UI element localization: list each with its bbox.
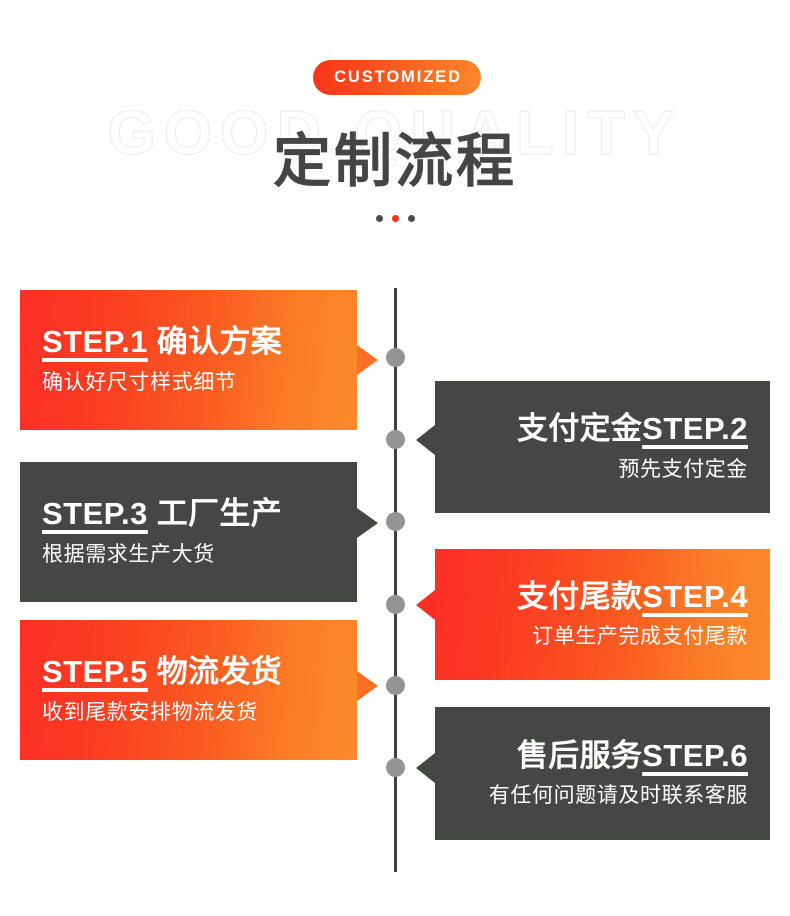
header-section: CUSTOMIZED GOOD QUALITY 定制流程	[0, 0, 790, 275]
step-4-number: STEP.4	[642, 579, 748, 614]
step-card-1[interactable]: STEP.1 确认方案 确认好尺寸样式细节	[20, 290, 357, 430]
step-2-title: 支付定金STEP.2	[517, 411, 748, 448]
step-6-title: 售后服务STEP.6	[517, 738, 748, 775]
step-card-4[interactable]: 支付尾款STEP.4 订单生产完成支付尾款	[435, 549, 770, 680]
timeline-node-5	[386, 676, 405, 695]
step-card-5[interactable]: STEP.5 物流发货 收到尾款安排物流发货	[20, 620, 357, 760]
step-3-heading: 工厂生产	[157, 496, 282, 531]
step-card-6[interactable]: 售后服务STEP.6 有任何问题请及时联系客服	[435, 707, 770, 840]
timeline-node-2	[386, 430, 405, 449]
step-2-number: STEP.2	[642, 411, 748, 446]
step-4-title: 支付尾款STEP.4	[517, 579, 748, 616]
step-5-arrow-icon	[357, 671, 378, 701]
step-6-subtitle: 有任何问题请及时联系客服	[489, 783, 748, 809]
step-4-subtitle: 订单生产完成支付尾款	[532, 624, 748, 650]
timeline-node-4	[386, 595, 405, 614]
timeline-node-6	[386, 758, 405, 777]
step-2-heading: 支付定金	[517, 411, 642, 446]
customized-badge: CUSTOMIZED	[313, 60, 481, 95]
divider-dot-3	[408, 215, 415, 222]
customized-badge-label: CUSTOMIZED	[332, 69, 462, 86]
step-5-heading: 物流发货	[157, 654, 282, 689]
step-card-3[interactable]: STEP.3 工厂生产 根据需求生产大货	[20, 462, 357, 602]
timeline-node-3	[386, 512, 405, 531]
step-4-arrow-icon	[416, 590, 435, 620]
step-3-subtitle: 根据需求生产大货	[42, 542, 215, 568]
step-1-heading: 确认方案	[157, 324, 282, 359]
step-3-title: STEP.3 工厂生产	[42, 496, 282, 533]
step-3-number: STEP.3	[42, 496, 148, 531]
step-2-subtitle: 预先支付定金	[618, 457, 748, 483]
step-1-title: STEP.1 确认方案	[42, 324, 282, 361]
divider-dot-accent	[392, 215, 399, 222]
step-5-title: STEP.5 物流发货	[42, 654, 282, 691]
timeline-spine	[394, 288, 397, 872]
step-2-arrow-icon	[416, 425, 435, 455]
step-1-arrow-icon	[357, 345, 378, 375]
customization-process-infographic: CUSTOMIZED GOOD QUALITY 定制流程 STEP.1 确认方案…	[0, 0, 790, 916]
step-5-number: STEP.5	[42, 654, 148, 689]
step-6-heading: 售后服务	[517, 738, 642, 773]
step-6-number: STEP.6	[642, 738, 748, 773]
step-1-subtitle: 确认好尺寸样式细节	[42, 370, 236, 396]
timeline-node-1	[386, 348, 405, 367]
step-5-subtitle: 收到尾款安排物流发货	[42, 700, 258, 726]
step-card-2[interactable]: 支付定金STEP.2 预先支付定金	[435, 381, 770, 513]
step-3-arrow-icon	[357, 508, 378, 538]
step-4-heading: 支付尾款	[517, 579, 642, 614]
page-title: 定制流程	[0, 130, 790, 195]
divider-dot-1	[376, 215, 383, 222]
title-dot-divider	[0, 215, 790, 222]
step-1-number: STEP.1	[42, 324, 148, 359]
step-6-arrow-icon	[416, 753, 435, 783]
